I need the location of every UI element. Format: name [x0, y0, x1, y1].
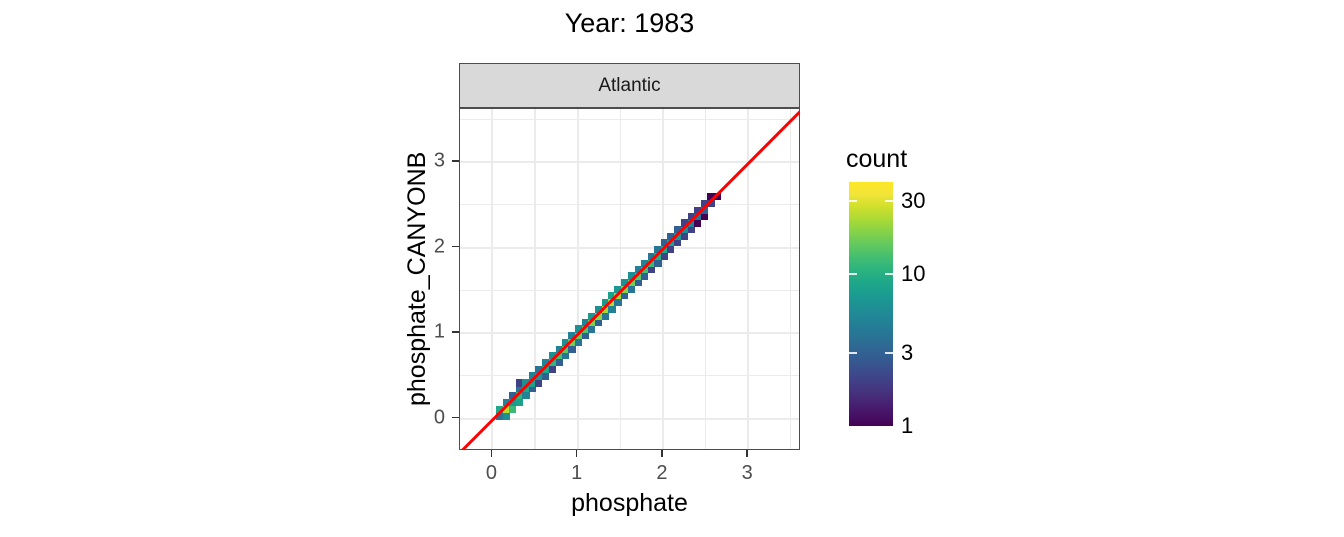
x-axis-tick-label: 1: [571, 462, 582, 485]
x-axis-tick-mark: [746, 450, 748, 457]
heatmap-bin: [681, 233, 688, 240]
heatmap-bin: [667, 246, 674, 253]
heatmap-bin: [542, 372, 549, 379]
heatmap-bin: [509, 406, 516, 413]
grid-line-major-vertical: [662, 109, 664, 449]
heatmap-bin: [608, 306, 615, 313]
grid-line-major-vertical: [491, 109, 493, 449]
y-axis-tick-mark: [452, 417, 459, 419]
x-axis-title: phosphate: [459, 489, 800, 518]
heatmap-bin: [503, 413, 510, 420]
legend-tick-mark: [849, 200, 857, 202]
grid-line-minor-vertical: [790, 109, 791, 449]
heatmap-bin: [535, 379, 542, 386]
heatmap-bin: [688, 226, 695, 233]
heatmap-bin: [575, 339, 582, 346]
y-axis-tick-mark: [452, 160, 459, 162]
y-axis-title: phosphate_CANYONB: [403, 152, 432, 406]
facet-strip-label: Atlantic: [598, 75, 660, 97]
legend-colorbar: [849, 182, 893, 426]
y-axis-tick-label: 0: [417, 406, 445, 429]
heatmap-bin: [556, 359, 563, 366]
legend-tick-mark: [885, 352, 893, 354]
legend-tick-label: 3: [901, 340, 913, 366]
plot-root: Year: 1983 Atlantic 01230123 phosphate p…: [0, 0, 1344, 537]
legend-tick-mark: [849, 273, 857, 275]
legend-tick-mark: [885, 200, 893, 202]
legend-tick-label: 1: [901, 413, 913, 439]
grid-line-minor-vertical: [705, 109, 706, 449]
heatmap-bin: [588, 325, 595, 332]
heatmap-bin: [582, 332, 589, 339]
heatmap-bin: [516, 399, 523, 406]
heatmap-bin: [694, 219, 701, 226]
grid-line-minor-vertical: [534, 109, 535, 449]
x-axis-tick-mark: [576, 450, 578, 457]
legend-tick-label: 10: [901, 261, 925, 287]
grid-line-major-vertical: [577, 109, 579, 449]
x-axis-tick-label: 2: [656, 462, 667, 485]
heatmap-bin: [602, 313, 609, 320]
heatmap-bin: [628, 286, 635, 293]
legend-title: count: [846, 145, 907, 174]
x-axis-tick-mark: [491, 450, 493, 457]
heatmap-bin: [661, 253, 668, 260]
x-axis-tick-label: 0: [486, 462, 497, 485]
x-axis-tick-label: 3: [742, 462, 753, 485]
heatmap-bin: [568, 346, 575, 353]
heatmap-bin: [654, 260, 661, 267]
legend-tick-mark: [849, 352, 857, 354]
plot-panel: [459, 108, 800, 450]
y-axis-tick-mark: [452, 331, 459, 333]
y-axis-tick-mark: [452, 246, 459, 248]
legend-tick-mark: [885, 273, 893, 275]
heatmap-bin: [549, 366, 556, 373]
heatmap-bin: [614, 299, 621, 306]
heatmap-bin: [522, 392, 529, 399]
x-axis-tick-mark: [661, 450, 663, 457]
legend-tick-label: 30: [901, 188, 925, 214]
facet-strip: Atlantic: [459, 63, 800, 108]
heatmap-bin: [641, 272, 648, 279]
heatmap-bin: [635, 279, 642, 286]
page-title: Year: 1983: [459, 9, 800, 39]
